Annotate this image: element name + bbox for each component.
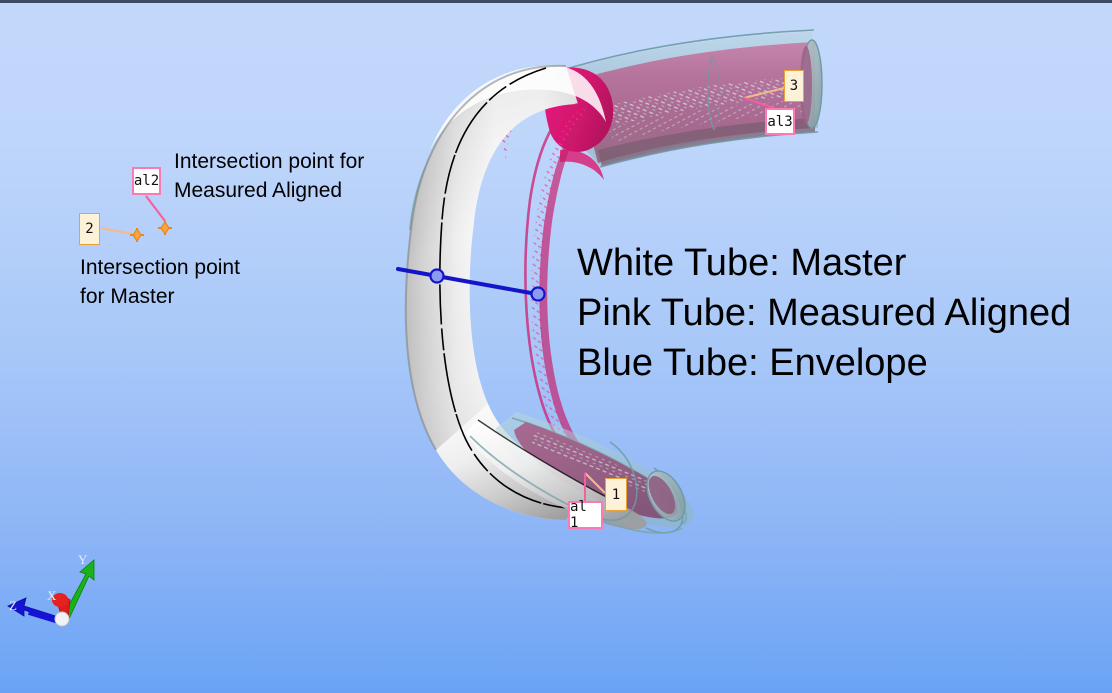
axis-label-y: Y bbox=[78, 552, 87, 568]
aligned-intersection-note: Intersection point for Measured Aligned bbox=[174, 147, 364, 205]
callout-point-al1[interactable]: al 1 bbox=[568, 501, 603, 529]
cad-viewport-3d[interactable]: White Tube: Master Pink Tube: Measured A… bbox=[0, 0, 1112, 693]
master-note-line-2: for Master bbox=[80, 282, 240, 311]
legend-line-white: White Tube: Master bbox=[577, 238, 1071, 288]
callout-point-al3[interactable]: al3 bbox=[765, 108, 795, 135]
aligned-intersection-marker-al2 bbox=[146, 196, 172, 235]
callout-point-3[interactable]: 3 bbox=[784, 70, 804, 102]
callout-point-2[interactable]: 2 bbox=[79, 213, 100, 245]
axis-label-x: X bbox=[47, 588, 56, 604]
aligned-note-line-1: Intersection point for bbox=[174, 147, 364, 176]
callout-point-al2[interactable]: al2 bbox=[132, 167, 161, 195]
aligned-note-line-2: Measured Aligned bbox=[174, 176, 364, 205]
master-note-line-1: Intersection point bbox=[80, 253, 240, 282]
callout-point-1[interactable]: 1 bbox=[605, 478, 627, 511]
tube-color-legend: White Tube: Master Pink Tube: Measured A… bbox=[577, 238, 1071, 388]
master-intersection-note: Intersection point for Master bbox=[80, 253, 240, 311]
legend-line-pink: Pink Tube: Measured Aligned bbox=[577, 288, 1071, 338]
master-intersection-marker-2 bbox=[101, 228, 144, 242]
axis-label-z: Z bbox=[9, 598, 17, 614]
legend-line-blue: Blue Tube: Envelope bbox=[577, 338, 1071, 388]
